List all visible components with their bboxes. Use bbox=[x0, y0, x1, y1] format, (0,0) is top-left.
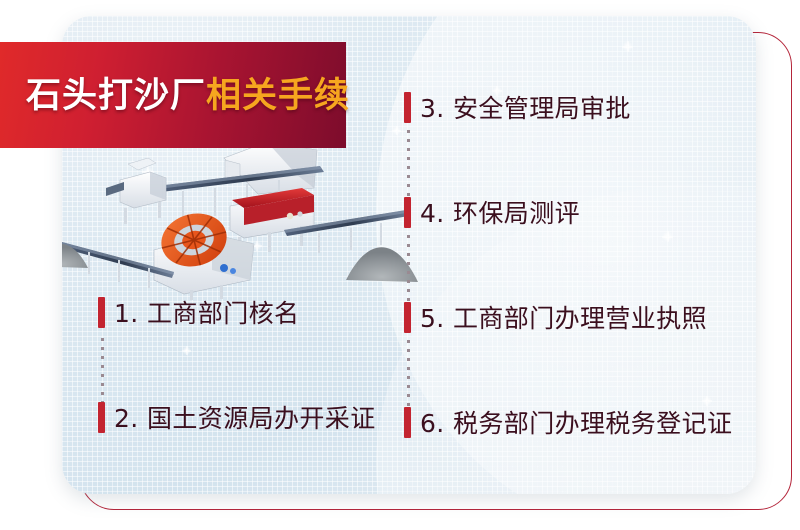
list-item[interactable]: 6. 税务部门办理税务登记证 bbox=[404, 400, 756, 444]
title-accent: 相关手续 bbox=[206, 76, 350, 115]
red-bar-marker-icon bbox=[98, 402, 105, 433]
red-bar-marker-icon bbox=[404, 92, 411, 123]
list-item-label: 3. 安全管理局审批 bbox=[420, 89, 631, 125]
list-item[interactable]: 2. 国土资源局办开采证 bbox=[98, 395, 388, 439]
sparkle-icon bbox=[252, 241, 262, 251]
list-item[interactable]: 3. 安全管理局审批 bbox=[404, 85, 756, 129]
procedure-list-left: 1. 工商部门核名 2. 国土资源局办开采证 bbox=[98, 290, 388, 439]
list-item-label: 5. 工商部门办理营业执照 bbox=[420, 299, 707, 335]
title-primary: 石头打沙厂 bbox=[26, 76, 206, 115]
list-item-label: 2. 国土资源局办开采证 bbox=[114, 399, 376, 435]
procedure-list-right: 3. 安全管理局审批 4. 环保局测评 5. 工商部门办理营业执照 6. 税务部… bbox=[404, 85, 756, 444]
list-item[interactable]: 1. 工商部门核名 bbox=[98, 290, 388, 334]
infographic-canvas: 石头打沙厂相关手续 1. 工商部门核名 2. 国土资源局办开采证 3. 安全管理… bbox=[0, 0, 800, 530]
list-item[interactable]: 5. 工商部门办理营业执照 bbox=[404, 295, 756, 339]
sparkle-icon bbox=[622, 41, 633, 52]
list-item[interactable]: 4. 环保局测评 bbox=[404, 190, 756, 234]
sparkle-icon bbox=[392, 126, 401, 135]
list-item-label: 6. 税务部门办理税务登记证 bbox=[420, 404, 732, 440]
red-bar-marker-icon bbox=[404, 407, 411, 438]
list-item-label: 4. 环保局测评 bbox=[420, 194, 580, 230]
title-banner: 石头打沙厂相关手续 bbox=[0, 42, 346, 148]
sparkle-icon bbox=[142, 166, 154, 178]
page-title: 石头打沙厂相关手续 bbox=[0, 78, 350, 113]
red-bar-marker-icon bbox=[404, 197, 411, 228]
red-bar-marker-icon bbox=[98, 297, 105, 328]
list-item-label: 1. 工商部门核名 bbox=[114, 294, 299, 330]
red-bar-marker-icon bbox=[404, 302, 411, 333]
